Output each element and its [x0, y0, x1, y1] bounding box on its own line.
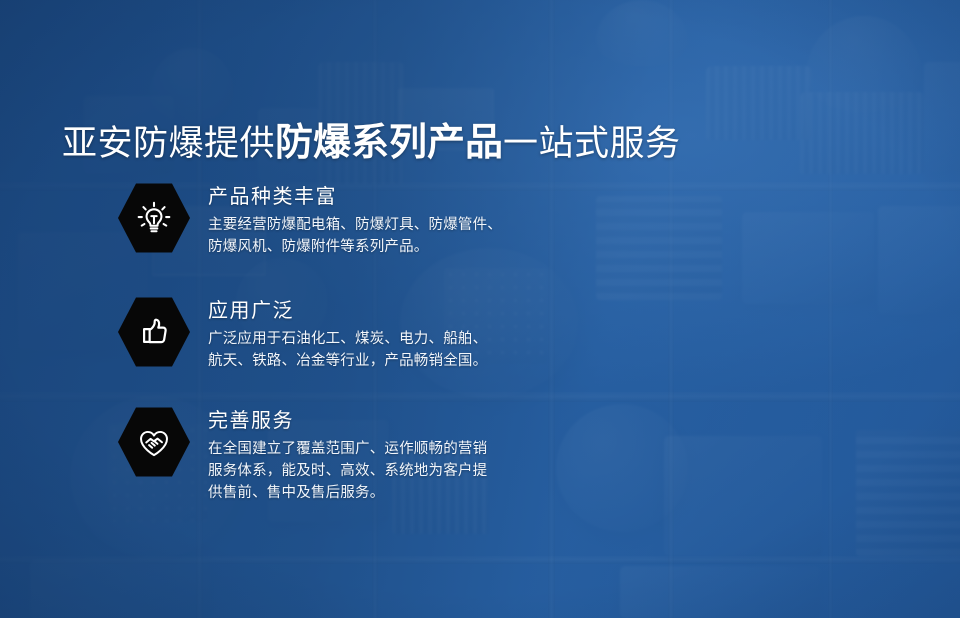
lightbulb-icon-badge [118, 182, 190, 254]
feature-description-line: 广泛应用于石油化工、煤炭、电力、船舶、 [208, 328, 487, 350]
headline-prefix: 亚安防爆提供 [62, 124, 275, 163]
feature-description-line: 服务体系，能及时、高效、系统地为客户提 [208, 460, 487, 482]
feature-description-line: 供售前、售中及售后服务。 [208, 482, 487, 504]
feature-item-wide-application: 应用广泛 广泛应用于石油化工、煤炭、电力、船舶、 航天、铁路、冶金等行业，产品畅… [118, 294, 502, 372]
feature-title: 产品种类丰富 [208, 184, 502, 210]
feature-description-line: 主要经营防爆配电箱、防爆灯具、防爆管件、 [208, 214, 502, 236]
feature-description: 主要经营防爆配电箱、防爆灯具、防爆管件、 防爆风机、防爆附件等系列产品。 [208, 214, 502, 258]
feature-description: 在全国建立了覆盖范围广、运作顺畅的营销 服务体系，能及时、高效、系统地为客户提 … [208, 438, 487, 504]
headline-suffix: 一站式服务 [503, 124, 681, 163]
headline-emphasis: 防爆系列产品 [275, 122, 503, 164]
page-title: 亚安防爆提供防爆系列产品一站式服务 [62, 121, 681, 166]
feature-text: 完善服务 在全国建立了覆盖范围广、运作顺畅的营销 服务体系，能及时、高效、系统地… [208, 404, 487, 504]
feature-text: 应用广泛 广泛应用于石油化工、煤炭、电力、船舶、 航天、铁路、冶金等行业，产品畅… [208, 294, 487, 372]
feature-text: 产品种类丰富 主要经营防爆配电箱、防爆灯具、防爆管件、 防爆风机、防爆附件等系列… [208, 180, 502, 258]
thumbs-up-icon [135, 313, 173, 351]
feature-item-complete-service: 完善服务 在全国建立了覆盖范围广、运作顺畅的营销 服务体系，能及时、高效、系统地… [118, 404, 502, 504]
feature-item-product-variety: 产品种类丰富 主要经营防爆配电箱、防爆灯具、防爆管件、 防爆风机、防爆附件等系列… [118, 180, 502, 258]
feature-description: 广泛应用于石油化工、煤炭、电力、船舶、 航天、铁路、冶金等行业，产品畅销全国。 [208, 328, 487, 372]
lightbulb-icon [135, 199, 173, 237]
promo-banner: 亚安防爆提供防爆系列产品一站式服务 产品种类丰富 [0, 0, 960, 618]
feature-description-line: 在全国建立了覆盖范围广、运作顺畅的营销 [208, 438, 487, 460]
feature-description-line: 防爆风机、防爆附件等系列产品。 [208, 236, 502, 258]
thumbs-up-icon-badge [118, 296, 190, 368]
heart-handshake-icon [135, 423, 173, 461]
feature-title: 完善服务 [208, 408, 487, 434]
feature-description-line: 航天、铁路、冶金等行业，产品畅销全国。 [208, 350, 487, 372]
heart-handshake-icon-badge [118, 406, 190, 478]
feature-title: 应用广泛 [208, 298, 487, 324]
feature-list: 产品种类丰富 主要经营防爆配电箱、防爆灯具、防爆管件、 防爆风机、防爆附件等系列… [118, 180, 502, 504]
banner-content: 亚安防爆提供防爆系列产品一站式服务 产品种类丰富 [0, 0, 960, 618]
